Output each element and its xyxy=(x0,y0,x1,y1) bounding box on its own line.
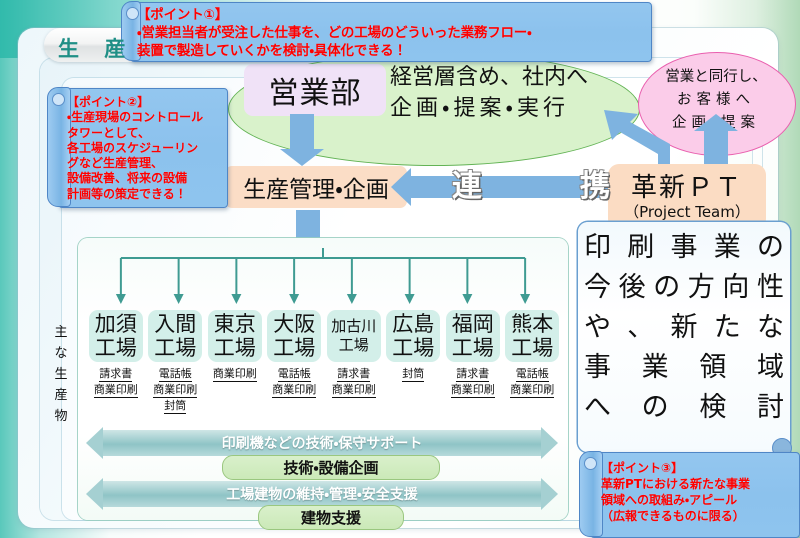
right-direction-char: 事 xyxy=(584,348,611,388)
factory-box-5: 加古川工場 xyxy=(327,310,381,362)
factory-products-2: 電話帳商業印刷封筒 xyxy=(145,366,205,414)
factory-name: 福岡 xyxy=(452,312,494,336)
factory-box-7: 福岡工場 xyxy=(446,310,500,362)
note-point-1-text: 【ポイント①】 ・営業担当者が受注した仕事を、どの工場のどういった業務フロー・ … xyxy=(131,3,651,60)
note-point-2: 【ポイント②】 ・生産現場のコントロール タワーとして、 各工場のスケジューリン… xyxy=(58,88,228,208)
arrow-pt-to-customer xyxy=(704,130,728,166)
main-products-char: な xyxy=(52,343,70,364)
factory-name: 加古川 xyxy=(331,317,376,336)
product-item: 請求書 xyxy=(86,366,146,382)
pt-subtitle: （Project Team） xyxy=(624,203,750,221)
factory-suffix: 工場 xyxy=(339,336,369,355)
support-box-building: 建物支援 xyxy=(258,505,404,530)
right-direction-line-2: 今後の方向性 xyxy=(584,268,784,308)
right-direction-char: 後 xyxy=(619,268,646,308)
product-item: 電話帳 xyxy=(502,366,562,382)
product-item: 商業印刷 xyxy=(205,366,265,382)
note-point-3: 【ポイント③】 革新PTにおける新たな事業 領域への取組み・アピール （広報でき… xyxy=(590,452,800,538)
customer-line2: お客様へ xyxy=(646,89,786,112)
factory-name: 広島 xyxy=(392,312,434,336)
main-products-label: 主な生産物 xyxy=(52,322,70,427)
right-direction-char: へ xyxy=(584,388,611,428)
factory-products-4: 電話帳商業印刷 xyxy=(264,366,324,398)
link-label-ren: 連 xyxy=(452,161,482,205)
product-item: 封筒 xyxy=(383,366,443,382)
right-direction-char: 業 xyxy=(642,348,669,388)
product-label: 商業印刷 xyxy=(332,382,376,398)
factory-products-6: 封筒 xyxy=(383,366,443,382)
right-direction-char: 業 xyxy=(714,228,741,268)
product-label: 電話帳 xyxy=(516,366,549,382)
right-direction-char: 向 xyxy=(722,268,749,308)
factory-box-3: 東京工場 xyxy=(208,310,262,362)
factory-products-5: 請求書商業印刷 xyxy=(324,366,384,398)
arrow-production-to-factories xyxy=(296,210,320,240)
factory-suffix: 工場 xyxy=(214,336,256,360)
product-item: 電話帳 xyxy=(264,366,324,382)
right-direction-char: な xyxy=(757,308,784,348)
product-item: 請求書 xyxy=(324,366,384,382)
factory-distribution-tree xyxy=(92,244,554,304)
main-products-char: 生 xyxy=(52,364,70,385)
support-bar-technology: 印刷機などの技術・保守サポート xyxy=(102,430,542,456)
sales-caption-line1: 経営層含め、社内へ xyxy=(390,62,636,93)
main-products-char: 産 xyxy=(52,385,70,406)
customer-line1: 営業と同行し、 xyxy=(646,66,786,89)
arrow-sales-to-production xyxy=(290,114,314,150)
right-direction-char: の xyxy=(653,268,680,308)
factory-products-1: 請求書商業印刷 xyxy=(86,366,146,398)
product-item: 商業印刷 xyxy=(264,382,324,398)
note-point-3-text: 【ポイント③】 革新PTにおける新たな事業 領域への取組み・アピール （広報でき… xyxy=(591,453,799,524)
factory-name: 大阪 xyxy=(273,312,315,336)
note-point-1: 【ポイント①】 ・営業担当者が受注した仕事を、どの工場のどういった業務フロー・ … xyxy=(130,2,652,62)
right-direction-char: 新 xyxy=(671,308,698,348)
factory-suffix: 工場 xyxy=(95,336,137,360)
right-direction-char: 方 xyxy=(688,268,715,308)
product-item: 商業印刷 xyxy=(145,382,205,398)
factory-box-4: 大阪工場 xyxy=(267,310,321,362)
factory-name: 入間 xyxy=(154,312,196,336)
product-item: 商業印刷 xyxy=(502,382,562,398)
factory-suffix: 工場 xyxy=(273,336,315,360)
arrow-pt-to-sales xyxy=(600,110,670,168)
right-direction-char: 域 xyxy=(757,348,784,388)
factory-name: 東京 xyxy=(214,312,256,336)
innovation-pt-box: 革新ＰＴ （Project Team） xyxy=(608,164,766,230)
right-direction-char: の xyxy=(642,388,669,428)
product-label: 請求書 xyxy=(337,366,370,382)
right-direction-line-1: 印刷事業の xyxy=(584,228,784,268)
diagram-canvas: 生 産 営業部 経営層含め、社内へ 企画・提案・実行 営業と同行し、 お客様へ … xyxy=(0,0,800,538)
right-direction-char: 事 xyxy=(671,228,698,268)
right-direction-char: 性 xyxy=(757,268,784,308)
page-title: 生 産 xyxy=(58,33,134,63)
product-label: 電話帳 xyxy=(278,366,311,382)
factory-products-8: 電話帳商業印刷 xyxy=(502,366,562,398)
right-direction-char: 討 xyxy=(757,388,784,428)
product-item: 商業印刷 xyxy=(324,382,384,398)
product-label: 商業印刷 xyxy=(510,382,554,398)
product-label: 封筒 xyxy=(164,398,186,414)
product-label: 請求書 xyxy=(456,366,489,382)
sales-department-box: 営業部 xyxy=(244,64,386,116)
factory-box-1: 加須工場 xyxy=(89,310,143,362)
right-direction-char: 今 xyxy=(584,268,611,308)
right-direction-text: 印刷事業の今後の方向性や、新たな事業領域への検討 xyxy=(584,228,784,428)
product-item: 商業印刷 xyxy=(86,382,146,398)
product-item: 電話帳 xyxy=(145,366,205,382)
right-direction-char: た xyxy=(714,308,741,348)
factory-name: 加須 xyxy=(95,312,137,336)
product-label: 商業印刷 xyxy=(272,382,316,398)
right-direction-line-4: 事業領域 xyxy=(584,348,784,388)
factory-products-7: 請求書商業印刷 xyxy=(443,366,503,398)
main-products-char: 主 xyxy=(52,322,70,343)
right-direction-char: 印 xyxy=(584,228,611,268)
support-box-technology: 技術・設備企画 xyxy=(222,455,440,480)
right-direction-char: の xyxy=(757,228,784,268)
link-label-kei: 携 xyxy=(580,161,610,205)
product-item: 商業印刷 xyxy=(443,382,503,398)
note-point-2-text: 【ポイント②】 ・生産現場のコントロール タワーとして、 各工場のスケジューリン… xyxy=(59,89,227,202)
product-label: 電話帳 xyxy=(159,366,192,382)
product-label: 請求書 xyxy=(99,366,132,382)
product-label: 商業印刷 xyxy=(153,382,197,398)
factory-box-2: 入間工場 xyxy=(148,310,202,362)
product-label: 商業印刷 xyxy=(451,382,495,398)
factory-name: 熊本 xyxy=(511,312,553,336)
factory-suffix: 工場 xyxy=(154,336,196,360)
right-direction-char: や xyxy=(584,308,611,348)
factory-suffix: 工場 xyxy=(511,336,553,360)
product-label: 商業印刷 xyxy=(213,366,257,382)
factory-products-3: 商業印刷 xyxy=(205,366,265,382)
factory-box-6: 広島工場 xyxy=(386,310,440,362)
pt-title: 革新ＰＴ xyxy=(631,174,743,203)
factory-suffix: 工場 xyxy=(452,336,494,360)
right-direction-line-5: への検討 xyxy=(584,388,784,428)
product-label: 商業印刷 xyxy=(94,382,138,398)
main-products-char: 物 xyxy=(52,406,70,427)
product-item: 請求書 xyxy=(443,366,503,382)
right-direction-line-3: や、新たな xyxy=(584,308,784,348)
right-direction-char: 刷 xyxy=(627,228,654,268)
factory-suffix: 工場 xyxy=(392,336,434,360)
right-direction-char: 領 xyxy=(699,348,726,388)
right-direction-char: 、 xyxy=(627,308,654,348)
product-item: 封筒 xyxy=(145,398,205,414)
factory-box-8: 熊本工場 xyxy=(505,310,559,362)
factory-row: 加須工場請求書商業印刷入間工場電話帳商業印刷封筒東京工場商業印刷大阪工場電話帳商… xyxy=(86,310,562,362)
production-management-box: 生産管理・企画 xyxy=(225,166,407,208)
right-direction-char: 検 xyxy=(699,388,726,428)
product-label: 封筒 xyxy=(402,366,424,382)
support-bar-building: 工場建物の維持・管理・安全支援 xyxy=(102,481,542,507)
